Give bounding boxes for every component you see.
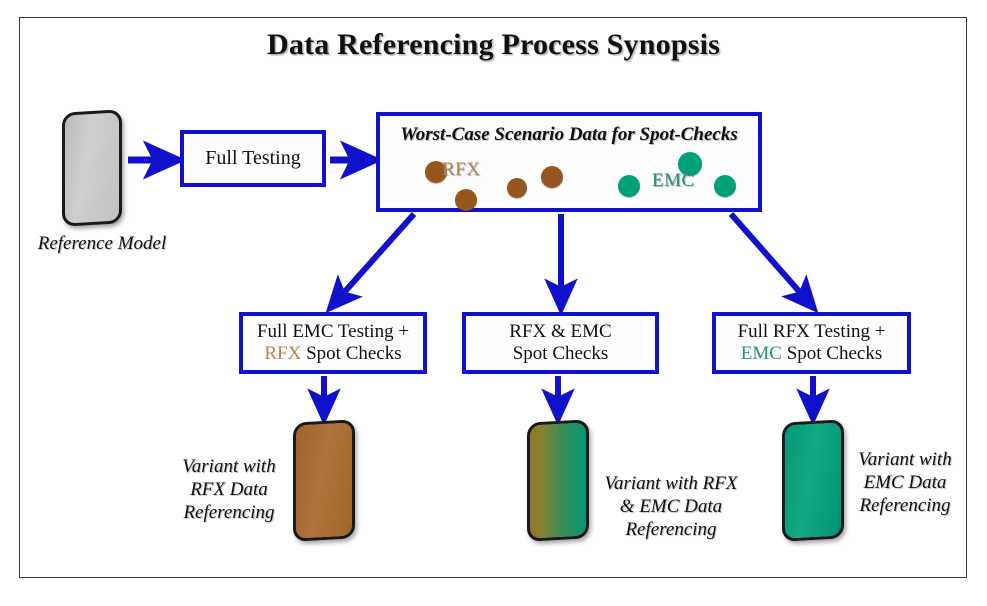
diagram-canvas: Data Referencing Process Synopsis Refere…: [0, 0, 987, 606]
full-testing-label: Full Testing: [205, 147, 300, 171]
data-dot-emc: [714, 175, 736, 197]
variant-device-rfx: [293, 419, 355, 541]
data-dot-emc: [618, 175, 640, 197]
branch-left-token: RFX: [264, 343, 301, 364]
caption-line: Referencing: [848, 494, 962, 517]
data-dot-rfx: [455, 189, 477, 211]
branch-left-line2: RFX Spot Checks: [264, 343, 401, 365]
branch-right-line2-rest: Spot Checks: [782, 343, 882, 364]
branch-box-right[interactable]: Full RFX Testing + EMC Spot Checks: [712, 312, 911, 374]
branch-left-line1: Full EMC Testing +: [257, 321, 409, 343]
variant-label-emc: Variant withEMC DataReferencing: [848, 448, 962, 518]
branch-left-line2-rest: Spot Checks: [301, 343, 401, 364]
branch-box-left[interactable]: Full EMC Testing + RFX Spot Checks: [239, 312, 427, 374]
caption-line: Referencing: [595, 518, 747, 541]
worst-case-scenario-box[interactable]: Worst-Case Scenario Data for Spot-Checks…: [376, 112, 762, 212]
caption-line: Referencing: [170, 501, 288, 524]
cluster-label-rfx: RFX: [442, 159, 480, 181]
branch-middle-line1: RFX & EMC: [509, 321, 611, 343]
full-testing-box[interactable]: Full Testing: [180, 130, 326, 187]
caption-line: RFX Data: [170, 478, 288, 501]
page-title: Data Referencing Process Synopsis: [0, 28, 987, 62]
reference-model-label: Reference Model: [22, 232, 182, 255]
caption-line: EMC Data: [848, 471, 962, 494]
dot-field: RFXEMC: [380, 116, 758, 208]
data-dot-rfx: [541, 166, 563, 188]
caption-line: Variant with: [170, 455, 288, 478]
data-dot-rfx: [507, 178, 527, 198]
variant-device-emc: [782, 419, 844, 541]
reference-model-device: [62, 109, 122, 226]
caption-line: Variant with: [848, 448, 962, 471]
branch-middle-line2: Spot Checks: [513, 343, 609, 365]
branch-right-token: EMC: [741, 343, 782, 364]
variant-label-rfx: Variant withRFX DataReferencing: [170, 455, 288, 525]
branch-right-line1: Full RFX Testing +: [738, 321, 886, 343]
caption-line: & EMC Data: [595, 495, 747, 518]
branch-box-middle[interactable]: RFX & EMC Spot Checks: [462, 312, 659, 374]
caption-line: Variant with RFX: [595, 472, 747, 495]
variant-device-rfx-emc: [527, 419, 589, 541]
cluster-label-emc: EMC: [652, 170, 695, 192]
branch-right-line2: EMC Spot Checks: [741, 343, 882, 365]
variant-label-rfx-emc: Variant with RFX& EMC DataReferencing: [595, 472, 747, 542]
